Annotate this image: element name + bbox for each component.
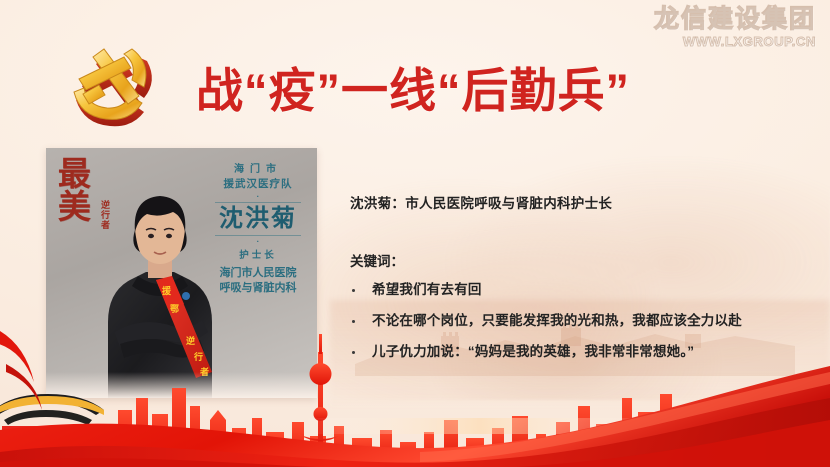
watermark-company: 龙信建设集团 bbox=[654, 6, 816, 32]
card-bottom-fade bbox=[46, 372, 317, 398]
dot-separator-top-icon: · bbox=[207, 193, 309, 200]
watermark-url: WWW.LXGROUP.CN bbox=[654, 34, 816, 49]
cpc-emblem-icon bbox=[52, 42, 170, 142]
red-ribbon-mid bbox=[0, 398, 830, 467]
tiananmen-slogan-1: 中华人民共和国万岁 bbox=[4, 452, 49, 459]
card-org-line2: 呼吸与肾脏内科 bbox=[207, 281, 309, 296]
bullet-dot-icon bbox=[352, 320, 355, 323]
slide-canvas: 战“疫”一线“后勤兵” 龙信建设集团 WWW.LXGROUP.CN 最美 逆行者 bbox=[0, 0, 830, 467]
list-item-text: 希望我们有去有回 bbox=[372, 282, 482, 297]
sash-char-4: 行 bbox=[193, 351, 203, 363]
list-item-text: 不论在哪个岗位，只要能发挥我的光和热，我都应该全力以赴 bbox=[372, 313, 742, 328]
dot-separator-bottom-icon: · bbox=[207, 238, 309, 245]
calligraphy-main: 最美 bbox=[56, 156, 87, 222]
card-team: 援武汉医疗队 bbox=[207, 177, 309, 193]
list-item: 儿子仇力加说：“妈妈是我的英雄，我非常非常想她。” bbox=[350, 344, 820, 361]
sash-char-3: 逆 bbox=[186, 335, 195, 347]
keyword-bullet-list: 希望我们有去有回 不论在哪个岗位，只要能发挥我的光和热，我都应该全力以赴 儿子仇… bbox=[350, 282, 820, 361]
card-city: 海门市 bbox=[207, 162, 309, 177]
lead-line: 沈洪菊：市人民医院呼吸与肾脏内科护士长 bbox=[350, 192, 820, 212]
sash-char-2: 鄂 bbox=[170, 304, 179, 315]
list-item: 不论在哪个岗位，只要能发挥我的光和热，我都应该全力以赴 bbox=[350, 313, 820, 330]
page-title: 战“疫”一线“后勤兵” bbox=[196, 52, 756, 128]
nurse-portrait-photo: 援 鄂 逆 行 者 bbox=[98, 172, 222, 398]
list-item-text: 儿子仇力加说：“妈妈是我的英雄，我非常非常想她。” bbox=[372, 344, 694, 359]
tiananmen-slogan-2: 世界人民大团结万岁 bbox=[58, 452, 103, 459]
keywords-label: 关键词： bbox=[350, 250, 820, 270]
body-text-block: 沈洪菊：市人民医院呼吸与肾脏内科护士长 关键词： 希望我们有去有回 不论在哪个岗… bbox=[350, 192, 820, 375]
divider-top bbox=[215, 202, 301, 203]
bullet-dot-icon bbox=[352, 351, 355, 354]
divider-bottom bbox=[215, 235, 301, 236]
bullet-dot-icon bbox=[352, 289, 355, 292]
card-org-line1: 海门市人民医院 bbox=[207, 266, 309, 281]
sash-char-1: 援 bbox=[162, 285, 172, 297]
watermark: 龙信建设集团 WWW.LXGROUP.CN bbox=[654, 6, 816, 49]
card-name: 沈洪菊 bbox=[207, 205, 309, 233]
pagoda-icon bbox=[742, 408, 770, 420]
card-role: 护士长 bbox=[207, 247, 309, 261]
ribbon-highlight bbox=[420, 372, 830, 462]
red-ribbon-lower bbox=[0, 420, 830, 467]
card-info-block: 海门市 援武汉医疗队 · 沈洪菊 · 护士长 海门市人民医院 呼吸与肾脏内科 bbox=[207, 162, 309, 296]
portrait-card: 最美 逆行者 bbox=[46, 148, 317, 398]
list-item: 希望我们有去有回 bbox=[350, 282, 820, 299]
